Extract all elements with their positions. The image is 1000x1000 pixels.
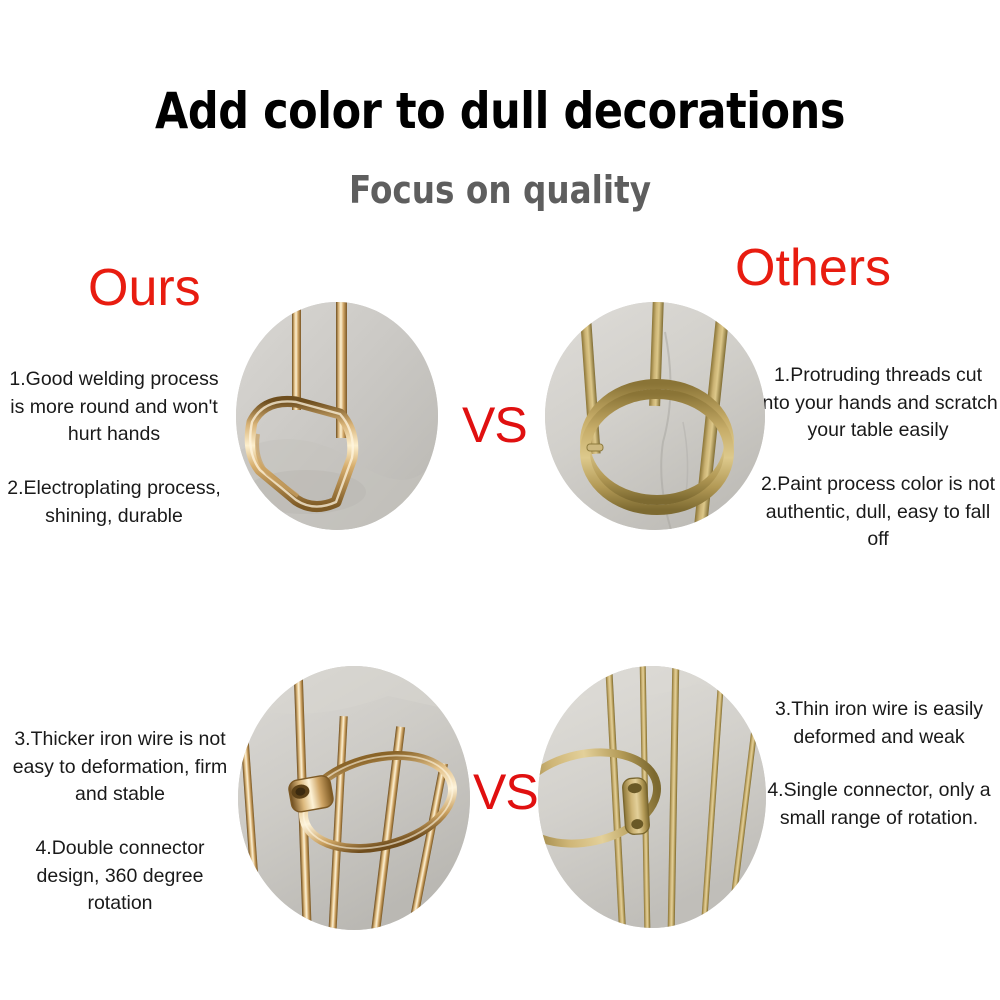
page-subtitle: Focus on quality xyxy=(70,168,930,212)
product-closeup-image xyxy=(238,666,470,930)
product-closeup-image xyxy=(538,666,766,928)
list-item: 3.Thicker iron wire is not easy to defor… xyxy=(4,726,236,809)
product-closeup-image xyxy=(236,302,438,530)
others-points-row2: 3.Thin iron wire is easily deformed and … xyxy=(760,696,998,833)
photo-others-row2 xyxy=(538,666,766,928)
list-item: 4.Single connector, only a small range o… xyxy=(760,777,998,832)
vs-marker-row1: VS xyxy=(462,396,527,454)
ours-points-row2: 3.Thicker iron wire is not easy to defor… xyxy=(4,726,236,918)
others-points-row1: 1.Protruding threads cut into your hands… xyxy=(758,362,998,554)
page-title: Add color to dull decorations xyxy=(70,82,930,140)
photo-others-row1 xyxy=(545,302,765,530)
label-others: Others xyxy=(735,238,891,298)
list-item: 1.Good welding process is more round and… xyxy=(2,366,226,449)
photo-ours-row1 xyxy=(236,302,438,530)
list-item: 2.Electroplating process, shining, durab… xyxy=(2,475,226,530)
photo-ours-row2 xyxy=(238,666,470,930)
ours-points-row1: 1.Good welding process is more round and… xyxy=(2,366,226,530)
vs-marker-row2: VS xyxy=(473,763,538,821)
list-item: 4.Double connector design, 360 degree ro… xyxy=(4,835,236,918)
label-ours: Ours xyxy=(88,258,201,318)
product-closeup-image xyxy=(545,302,765,530)
list-item: 3.Thin iron wire is easily deformed and … xyxy=(760,696,998,751)
product-comparison-infographic: Add color to dull decorations Focus on q… xyxy=(0,0,1000,1000)
list-item: 2.Paint process color is not authentic, … xyxy=(758,471,998,554)
list-item: 1.Protruding threads cut into your hands… xyxy=(758,362,998,445)
